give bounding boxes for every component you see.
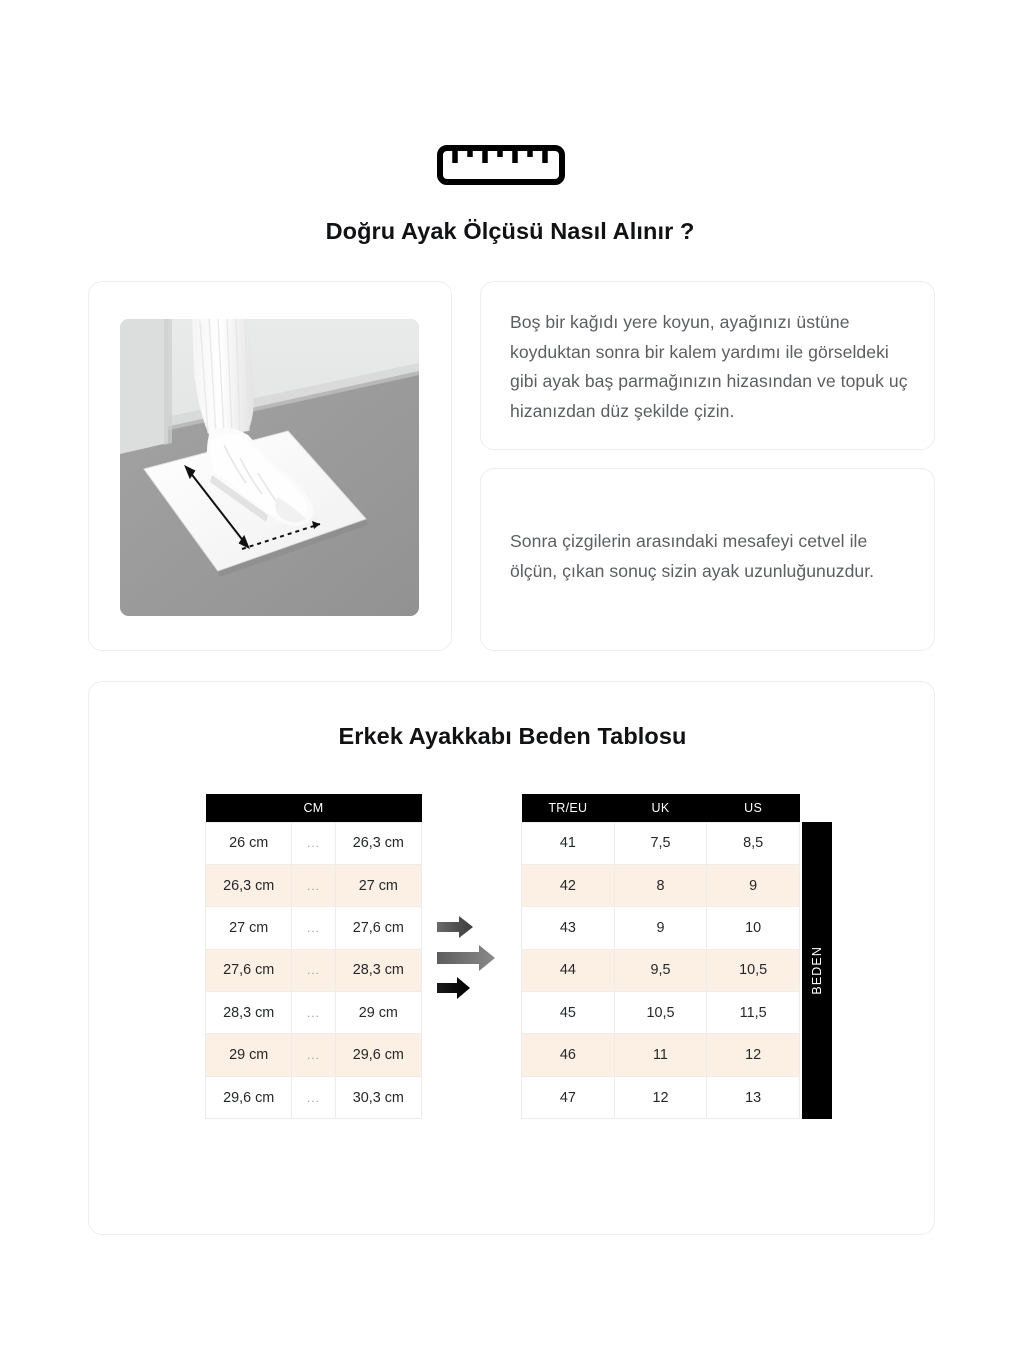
cm-to: 26,3 cm (335, 822, 421, 864)
cell-us: 13 (707, 1076, 800, 1118)
cm-separator: ... (292, 949, 335, 991)
table-row[interactable]: 46 11 12 (522, 1034, 800, 1076)
cm-from: 29,6 cm (206, 1076, 292, 1118)
header-us: US (707, 794, 800, 822)
cm-to: 27,6 cm (335, 907, 421, 949)
cm-separator: ... (292, 822, 335, 864)
cell-us: 8,5 (707, 822, 800, 864)
cell-uk: 10,5 (614, 992, 707, 1034)
table-row[interactable]: 45 10,5 11,5 (522, 992, 800, 1034)
conversion-table-header-row: TR/EU UK US (522, 794, 800, 822)
cell-uk: 11 (614, 1034, 707, 1076)
table-row[interactable]: 42 8 9 (522, 864, 800, 906)
cell-uk: 7,5 (614, 822, 707, 864)
cm-to: 29,6 cm (335, 1034, 421, 1076)
cm-to: 30,3 cm (335, 1076, 421, 1118)
cm-to: 28,3 cm (335, 949, 421, 991)
beden-label-text: BEDEN (810, 946, 824, 995)
cell-us: 10 (707, 907, 800, 949)
cell-uk: 9,5 (614, 949, 707, 991)
table-row[interactable]: 26 cm ... 26,3 cm (206, 822, 422, 864)
size-table-title: Erkek Ayakkabı Beden Tablosu (89, 723, 936, 750)
cm-size-table: CM 26 cm ... 26,3 cm 26,3 cm ... 27 cm (205, 794, 422, 1119)
cell-us: 10,5 (707, 949, 800, 991)
cm-to: 29 cm (335, 992, 421, 1034)
cell-treu: 44 (522, 949, 615, 991)
instruction-card-2: Sonra çizgilerin arasındaki mesafeyi cet… (480, 468, 935, 651)
table-row[interactable]: 27 cm ... 27,6 cm (206, 907, 422, 949)
instruction-text-1: Boş bir kağıdı yere koyun, ayağınızı üst… (510, 308, 908, 426)
cell-treu: 41 (522, 822, 615, 864)
table-row[interactable]: 29 cm ... 29,6 cm (206, 1034, 422, 1076)
cell-treu: 47 (522, 1076, 615, 1118)
cm-from: 26,3 cm (206, 864, 292, 906)
cm-separator: ... (292, 992, 335, 1034)
cell-uk: 8 (614, 864, 707, 906)
page-title: Doğru Ayak Ölçüsü Nasıl Alınır ? (0, 218, 1020, 245)
photo-card (88, 281, 452, 651)
cm-from: 27,6 cm (206, 949, 292, 991)
cm-separator: ... (292, 864, 335, 906)
header-uk: UK (614, 794, 707, 822)
table-row[interactable]: 41 7,5 8,5 (522, 822, 800, 864)
table-row[interactable]: 44 9,5 10,5 (522, 949, 800, 991)
cell-treu: 45 (522, 992, 615, 1034)
cm-separator: ... (292, 1034, 335, 1076)
size-table-card: Erkek Ayakkabı Beden Tablosu CM 26 cm ..… (88, 681, 935, 1235)
cell-uk: 9 (614, 907, 707, 949)
foot-measurement-photo (120, 319, 419, 616)
size-tables-row: CM 26 cm ... 26,3 cm 26,3 cm ... 27 cm (89, 794, 936, 1134)
cm-separator: ... (292, 1076, 335, 1118)
table-row[interactable]: 43 9 10 (522, 907, 800, 949)
table-row[interactable]: 28,3 cm ... 29 cm (206, 992, 422, 1034)
cell-treu: 43 (522, 907, 615, 949)
cm-from: 28,3 cm (206, 992, 292, 1034)
triple-right-arrow-icon (433, 912, 513, 1012)
beden-side-label: BEDEN (802, 822, 832, 1119)
table-row[interactable]: 47 12 13 (522, 1076, 800, 1118)
cell-treu: 46 (522, 1034, 615, 1076)
conversion-size-table: TR/EU UK US 41 7,5 8,5 42 8 9 (521, 794, 800, 1119)
instruction-card-1: Boş bir kağıdı yere koyun, ayağınızı üst… (480, 281, 935, 450)
table-row[interactable]: 29,6 cm ... 30,3 cm (206, 1076, 422, 1118)
cell-us: 11,5 (707, 992, 800, 1034)
size-guide-page: Doğru Ayak Ölçüsü Nasıl Alınır ? (0, 0, 1020, 1360)
instruction-text-2: Sonra çizgilerin arasındaki mesafeyi cet… (510, 527, 908, 586)
table-row[interactable]: 27,6 cm ... 28,3 cm (206, 949, 422, 991)
cm-from: 26 cm (206, 822, 292, 864)
cell-uk: 12 (614, 1076, 707, 1118)
cm-to: 27 cm (335, 864, 421, 906)
table-row[interactable]: 26,3 cm ... 27 cm (206, 864, 422, 906)
cm-from: 27 cm (206, 907, 292, 949)
cm-table-header-row: CM (206, 794, 422, 822)
cm-table-header: CM (206, 794, 422, 822)
cm-separator: ... (292, 907, 335, 949)
cm-from: 29 cm (206, 1034, 292, 1076)
cell-treu: 42 (522, 864, 615, 906)
header-treu: TR/EU (522, 794, 615, 822)
ruler-icon (437, 145, 565, 185)
cell-us: 9 (707, 864, 800, 906)
cell-us: 12 (707, 1034, 800, 1076)
